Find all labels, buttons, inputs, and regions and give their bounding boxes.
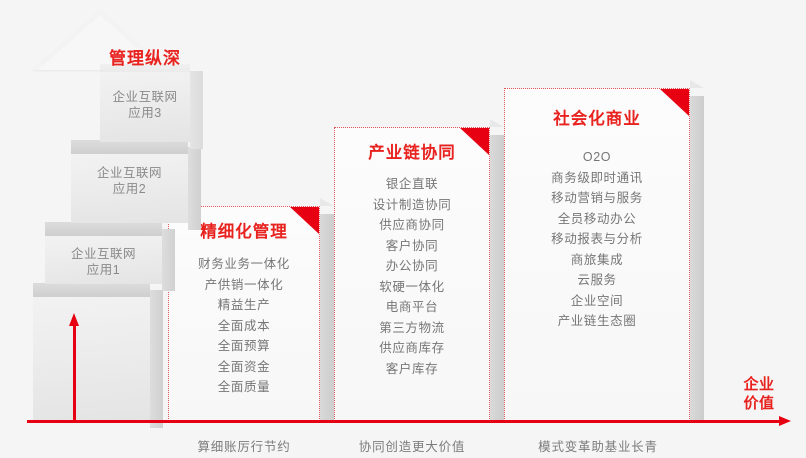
list-item: 产业链生态圈 <box>504 311 690 332</box>
list-item: 财务业务一体化 <box>168 254 320 275</box>
list-item: 客户协同 <box>334 236 490 257</box>
stair-step-1[interactable]: 企业互联网 应用1 <box>45 222 162 284</box>
list-item: 全面预算 <box>168 336 320 357</box>
list-item: 全面成本 <box>168 316 320 337</box>
stair-side-face <box>190 71 203 149</box>
list-item: 电商平台 <box>334 297 490 318</box>
foot-label-social-business: 模式变革助基业长青 <box>506 436 690 455</box>
x-axis-line <box>27 420 781 423</box>
x-axis-value-label: 企业 价值 <box>726 375 792 413</box>
list-item: 企业空间 <box>504 291 690 312</box>
stair-step-3[interactable]: 企业互联网 应用3 <box>100 64 190 142</box>
value-growth-axis-arrow-icon <box>69 313 79 326</box>
section-item-list: 银企直联 设计制造协同 供应商协同 客户协同 办公协同 软硬一体化 电商平台 第… <box>334 174 490 379</box>
list-item: 第三方物流 <box>334 318 490 339</box>
list-item: 银企直联 <box>334 174 490 195</box>
list-item: 移动报表与分析 <box>504 229 690 250</box>
list-item: 供应商库存 <box>334 338 490 359</box>
stair-label: 企业互联网 应用3 <box>100 89 190 121</box>
panel-wall-top <box>690 80 704 88</box>
list-item: 精益生产 <box>168 295 320 316</box>
foot-label-refined-management: 算细账厉行节约 <box>164 436 324 455</box>
list-item: 客户库存 <box>334 359 490 380</box>
list-item: 全员移动办公 <box>504 209 690 230</box>
list-item: 商旅集成 <box>504 250 690 271</box>
section-title: 产业链协同 <box>334 139 490 163</box>
list-item: 软硬一体化 <box>334 277 490 298</box>
stair-front-face <box>33 297 150 421</box>
list-item: 办公协同 <box>334 256 490 277</box>
list-item: 云服务 <box>504 270 690 291</box>
panel-wall-top <box>320 198 334 206</box>
panel-wall-top <box>490 119 504 127</box>
stair-side-face <box>150 290 163 428</box>
section-item-list: 财务业务一体化 产供销一体化 精益生产 全面成本 全面预算 全面资金 全面质量 <box>168 254 320 398</box>
list-item: 产供销一体化 <box>168 275 320 296</box>
list-item: 设计制造协同 <box>334 195 490 216</box>
stair-top-face <box>45 222 162 236</box>
stair-label: 企业互联网 应用2 <box>71 165 188 197</box>
stair-top-face <box>33 283 150 297</box>
section-panel-refined-management[interactable]: 精细化管理 财务业务一体化 产供销一体化 精益生产 全面成本 全面预算 全面资金… <box>168 206 320 421</box>
stair-side-face <box>188 147 201 230</box>
foot-label-industry-chain: 协同创造更大价值 <box>329 436 495 455</box>
stairs-top-banner: 管理纵深 <box>100 44 190 69</box>
stair-step-2[interactable]: 企业互联网 应用2 <box>71 140 188 223</box>
panel-wall <box>490 135 504 421</box>
list-item: 全面质量 <box>168 377 320 398</box>
list-item: O2O <box>504 147 690 168</box>
section-panel-social-business[interactable]: 社会化商业 O2O 商务级即时通讯 移动营销与服务 全员移动办公 移动报表与分析… <box>504 88 690 421</box>
stair-top-face <box>71 140 188 154</box>
x-axis-arrow-icon <box>779 416 791 426</box>
list-item: 全面资金 <box>168 357 320 378</box>
panel-wall <box>690 96 704 421</box>
stair-label: 企业互联网 应用1 <box>45 246 162 278</box>
panel-wall <box>320 214 334 421</box>
list-item: 商务级即时通讯 <box>504 168 690 189</box>
diagram-canvas: 精细化管理 财务业务一体化 产供销一体化 精益生产 全面成本 全面预算 全面资金… <box>0 0 806 458</box>
stair-base <box>33 283 150 421</box>
list-item: 供应商协同 <box>334 215 490 236</box>
stair-side-face <box>162 229 175 291</box>
section-item-list: O2O 商务级即时通讯 移动营销与服务 全员移动办公 移动报表与分析 商旅集成 … <box>504 147 690 332</box>
section-panel-industry-chain[interactable]: 产业链协同 银企直联 设计制造协同 供应商协同 客户协同 办公协同 软硬一体化 … <box>334 127 490 421</box>
section-title: 社会化商业 <box>504 105 690 129</box>
value-growth-axis <box>73 325 76 421</box>
list-item: 移动营销与服务 <box>504 188 690 209</box>
